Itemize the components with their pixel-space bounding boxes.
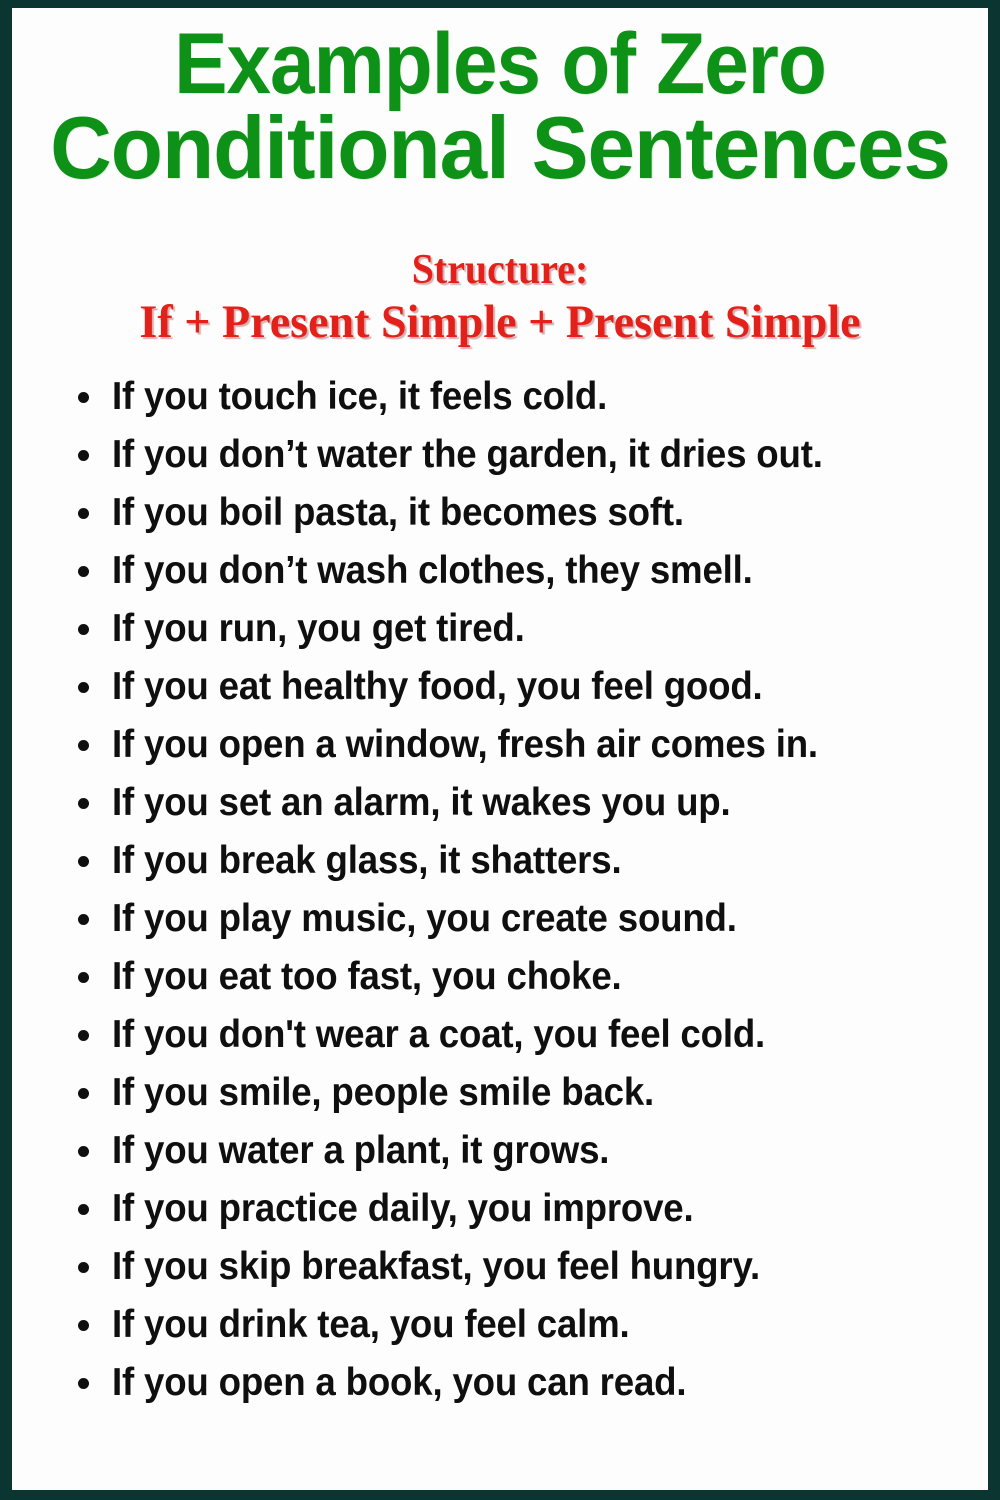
bullet-icon <box>78 972 89 983</box>
page-title-line-1: Examples of Zero <box>46 22 954 106</box>
list-item-text: If you break glass, it shatters. <box>112 832 621 890</box>
list-item-text: If you open a window, fresh air comes in… <box>112 716 818 774</box>
structure-block: Structure: If + Present Simple + Present… <box>12 246 988 350</box>
list-item: If you skip breakfast, you feel hungry. <box>12 1238 988 1296</box>
list-item: If you smile, people smile back. <box>12 1064 988 1122</box>
bullet-icon <box>78 1088 89 1099</box>
list-item-text: If you practice daily, you improve. <box>112 1180 694 1238</box>
bullet-icon <box>78 508 89 519</box>
list-item-text: If you open a book, you can read. <box>112 1354 686 1412</box>
bullet-icon <box>78 450 89 461</box>
list-item: If you practice daily, you improve. <box>12 1180 988 1238</box>
page-title: Examples of Zero Conditional Sentences <box>12 22 988 190</box>
page-title-line-2: Conditional Sentences <box>27 106 974 190</box>
list-item-text: If you eat too fast, you choke. <box>112 948 622 1006</box>
bullet-icon <box>78 1146 89 1157</box>
list-item: If you eat too fast, you choke. <box>12 948 988 1006</box>
bullet-icon <box>78 682 89 693</box>
list-item-text: If you play music, you create sound. <box>112 890 737 948</box>
list-item: If you don't wear a coat, you feel cold. <box>12 1006 988 1064</box>
list-item: If you touch ice, it feels cold. <box>12 368 988 426</box>
list-item: If you boil pasta, it becomes soft. <box>12 484 988 542</box>
list-item-text: If you water a plant, it grows. <box>112 1122 609 1180</box>
poster-sheet: Examples of Zero Conditional Sentences S… <box>12 8 988 1490</box>
list-item: If you water a plant, it grows. <box>12 1122 988 1180</box>
list-item: If you run, you get tired. <box>12 600 988 658</box>
list-item-text: If you touch ice, it feels cold. <box>112 368 607 426</box>
examples-list: If you touch ice, it feels cold.If you d… <box>12 368 988 1412</box>
structure-formula: If + Present Simple + Present Simple <box>22 294 978 350</box>
bullet-icon <box>78 1204 89 1215</box>
list-item-text: If you don't wear a coat, you feel cold. <box>112 1006 765 1064</box>
bullet-icon <box>78 914 89 925</box>
list-item-text: If you don’t wash clothes, they smell. <box>112 542 753 600</box>
structure-heading: Structure: <box>36 246 963 294</box>
bullet-icon <box>78 1030 89 1041</box>
list-item: If you open a book, you can read. <box>12 1354 988 1412</box>
list-item-text: If you drink tea, you feel calm. <box>112 1296 630 1354</box>
bullet-icon <box>78 856 89 867</box>
bullet-icon <box>78 624 89 635</box>
bullet-icon <box>78 740 89 751</box>
list-item-text: If you eat healthy food, you feel good. <box>112 658 763 716</box>
list-item: If you set an alarm, it wakes you up. <box>12 774 988 832</box>
bullet-icon <box>78 1320 89 1331</box>
list-item: If you drink tea, you feel calm. <box>12 1296 988 1354</box>
bullet-icon <box>78 1262 89 1273</box>
list-item: If you play music, you create sound. <box>12 890 988 948</box>
poster-frame: Examples of Zero Conditional Sentences S… <box>0 0 1000 1500</box>
list-item: If you open a window, fresh air comes in… <box>12 716 988 774</box>
list-item-text: If you skip breakfast, you feel hungry. <box>112 1238 760 1296</box>
list-item: If you don’t water the garden, it dries … <box>12 426 988 484</box>
list-item-text: If you run, you get tired. <box>112 600 525 658</box>
list-item-text: If you don’t water the garden, it dries … <box>112 426 823 484</box>
list-item-text: If you boil pasta, it becomes soft. <box>112 484 684 542</box>
list-item-text: If you smile, people smile back. <box>112 1064 654 1122</box>
list-item-text: If you set an alarm, it wakes you up. <box>112 774 730 832</box>
bullet-icon <box>78 1378 89 1389</box>
list-item: If you break glass, it shatters. <box>12 832 988 890</box>
list-item: If you don’t wash clothes, they smell. <box>12 542 988 600</box>
list-item: If you eat healthy food, you feel good. <box>12 658 988 716</box>
bullet-icon <box>78 798 89 809</box>
bullet-icon <box>78 566 89 577</box>
bullet-icon <box>78 392 89 403</box>
